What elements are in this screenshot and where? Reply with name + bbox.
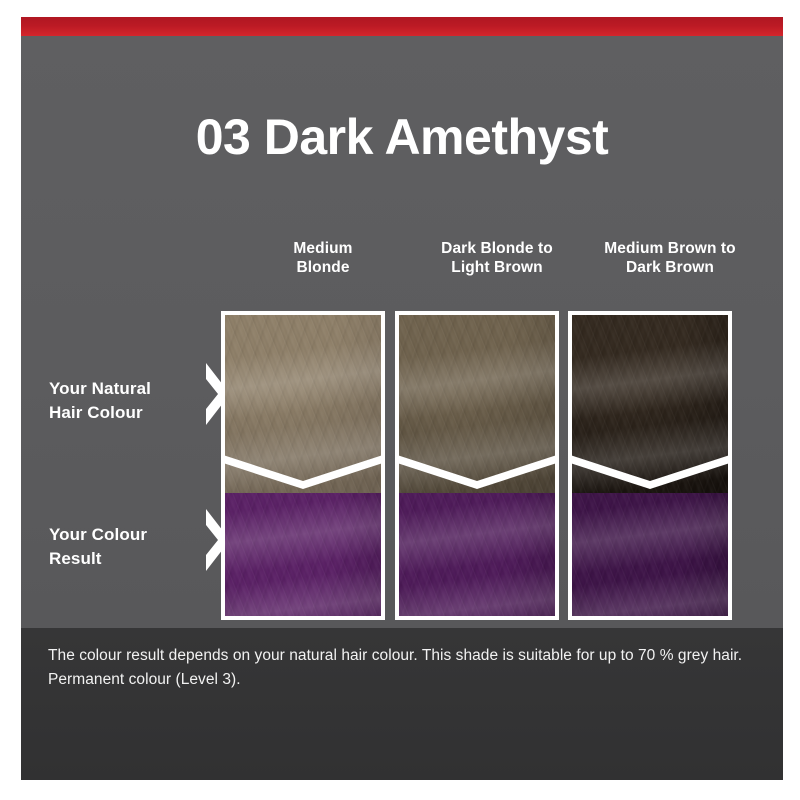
chevron-divider-icon — [225, 455, 381, 495]
swatch-panel-medium-blonde[interactable] — [221, 311, 385, 620]
product-shade-card: 03 Dark Amethyst MediumBlonde Dark Blond… — [0, 0, 800, 800]
swatch-panel-medium-brown-to-dark-brown[interactable] — [568, 311, 732, 620]
column-header-medium-blonde: MediumBlonde — [228, 239, 418, 277]
swatch-panel-dark-blonde-to-light-brown[interactable] — [395, 311, 559, 620]
chevron-divider-icon — [572, 455, 728, 495]
swatch-inner — [225, 315, 381, 616]
column-header-dark-blonde-to-light-brown: Dark Blonde toLight Brown — [402, 239, 592, 277]
page-title: 03 Dark Amethyst — [21, 112, 783, 162]
footer-panel: The colour result depends on your natura… — [21, 628, 783, 780]
column-header-medium-brown-to-dark-brown: Medium Brown toDark Brown — [575, 239, 765, 277]
brand-accent-bar — [21, 17, 783, 36]
main-panel: 03 Dark Amethyst MediumBlonde Dark Blond… — [21, 36, 783, 628]
swatch-inner — [572, 315, 728, 616]
column-headers: MediumBlonde Dark Blonde toLight Brown M… — [21, 239, 783, 309]
disclaimer-text: The colour result depends on your natura… — [48, 644, 748, 692]
swatch-panels — [21, 311, 783, 620]
chevron-divider-icon — [399, 455, 555, 495]
swatch-inner — [399, 315, 555, 616]
